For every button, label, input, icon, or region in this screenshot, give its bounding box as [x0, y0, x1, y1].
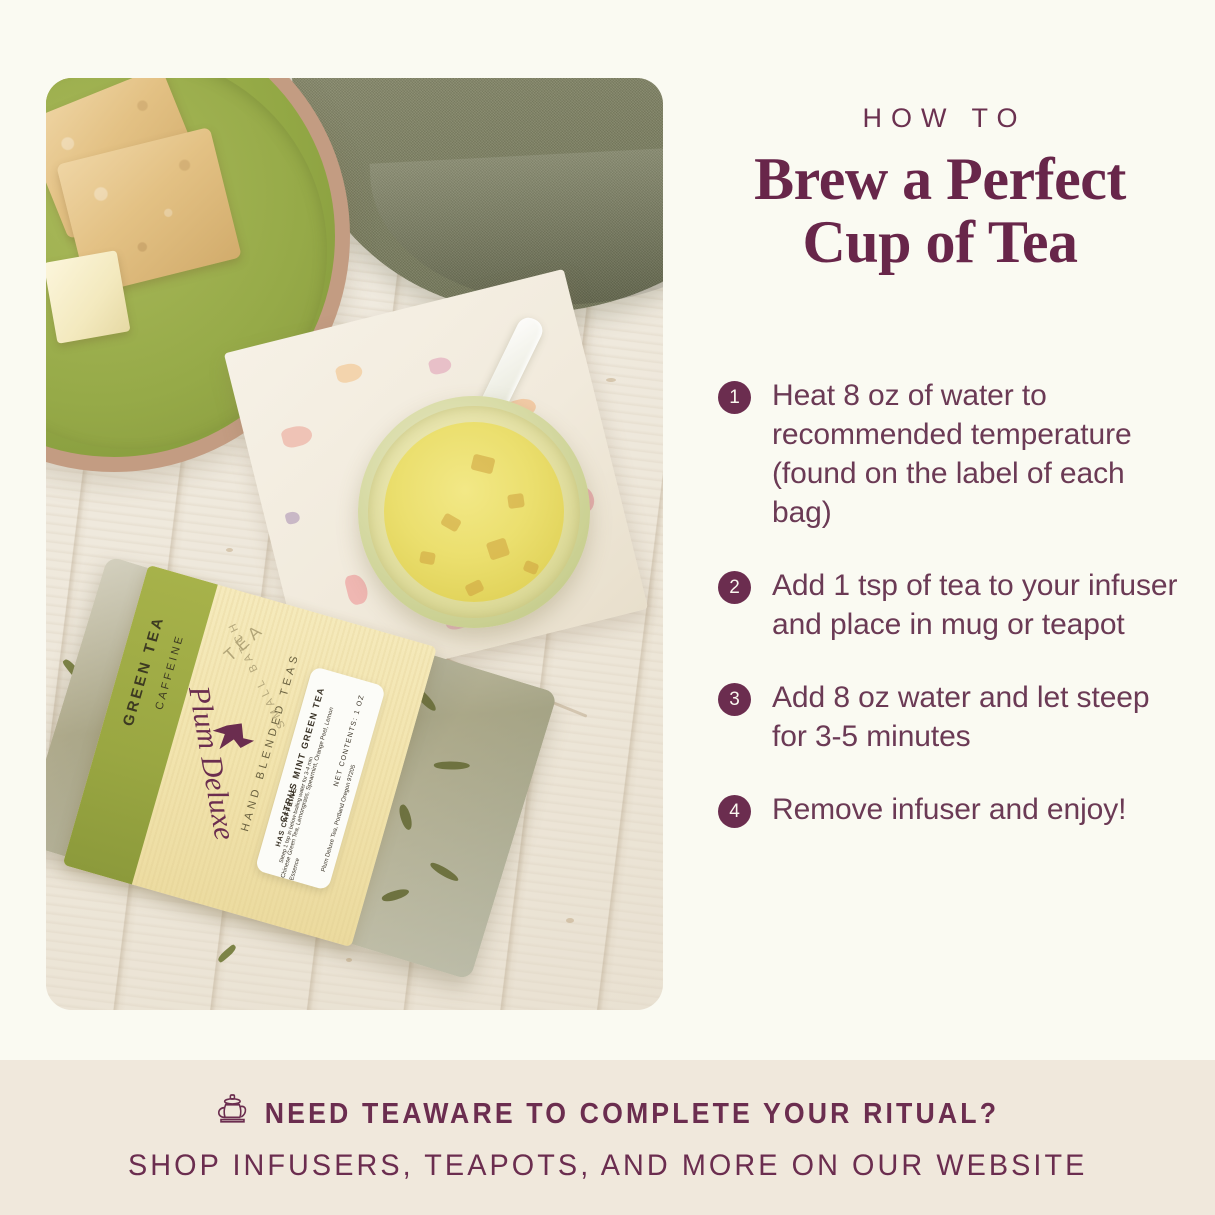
terrazzo-fleck: [334, 361, 364, 385]
headline-line-2: Cup of Tea: [700, 211, 1180, 274]
tea-leaf-fleck: [507, 493, 525, 509]
package-leaf: [381, 886, 410, 904]
instructions-panel: HOW TO Brew a Perfect Cup of Tea 1 Heat …: [700, 104, 1180, 274]
list-item: 2 Add 1 tsp of tea to your infuser and p…: [718, 566, 1180, 644]
page-title: Brew a Perfect Cup of Tea: [700, 148, 1180, 274]
tea-leaf-fleck: [419, 551, 436, 565]
step-text: Add 8 oz water and let steep for 3-5 min…: [772, 678, 1180, 756]
footer-banner: NEED TEAWARE TO COMPLETE YOUR RITUAL? SH…: [0, 1060, 1215, 1215]
hero-photo: GREEN TEA CAFFEINE HAND BLENDED TEAS SMA…: [46, 78, 663, 1010]
footer-line-1-text: NEED TEAWARE TO COMPLETE YOUR RITUAL?: [265, 1098, 999, 1131]
terrazzo-fleck: [428, 355, 453, 376]
package-leaf: [397, 803, 415, 831]
tea-leaf-fleck: [470, 454, 495, 475]
cheese-cube: [46, 250, 131, 344]
package-brand-name: Plum Deluxe: [181, 683, 242, 842]
list-item: 3 Add 8 oz water and let steep for 3-5 m…: [718, 678, 1180, 756]
wood-speck: [606, 378, 616, 382]
step-number-badge: 2: [718, 571, 751, 604]
step-text: Remove infuser and enjoy!: [772, 790, 1126, 829]
terrazzo-fleck: [284, 510, 300, 525]
headline-line-1: Brew a Perfect: [754, 146, 1126, 212]
step-number-badge: 3: [718, 683, 751, 716]
step-text: Heat 8 oz of water to recommended temper…: [772, 376, 1180, 532]
package-leaf: [434, 761, 470, 770]
tea-leaf-fleck: [440, 512, 462, 532]
tea-leaf-fleck: [464, 579, 485, 597]
step-number-badge: 1: [718, 381, 751, 414]
step-text: Add 1 tsp of tea to your infuser and pla…: [772, 566, 1180, 644]
kicker-label: HOW TO: [700, 104, 1180, 134]
tea-liquid: [384, 422, 564, 602]
list-item: 4 Remove infuser and enjoy!: [718, 790, 1180, 829]
step-number-badge: 4: [718, 795, 751, 828]
tea-leaf-fleck: [522, 560, 539, 575]
glass-teacup: [358, 396, 590, 628]
teapot-icon: [215, 1093, 250, 1137]
tea-leaf-fleck: [486, 537, 511, 560]
wood-speck: [226, 548, 233, 552]
wood-speck: [566, 918, 574, 923]
package-leaf: [428, 861, 460, 884]
footer-line-2-text: SHOP INFUSERS, TEAPOTS, AND MORE ON OUR …: [128, 1149, 1087, 1183]
wood-speck: [346, 958, 352, 962]
list-item: 1 Heat 8 oz of water to recommended temp…: [718, 376, 1180, 532]
steps-list: 1 Heat 8 oz of water to recommended temp…: [718, 376, 1180, 829]
terrazzo-fleck: [344, 572, 371, 606]
footer-headline-row: NEED TEAWARE TO COMPLETE YOUR RITUAL?: [215, 1093, 999, 1137]
infographic-canvas: GREEN TEA CAFFEINE HAND BLENDED TEAS SMA…: [0, 0, 1215, 1215]
terrazzo-fleck: [280, 423, 314, 450]
